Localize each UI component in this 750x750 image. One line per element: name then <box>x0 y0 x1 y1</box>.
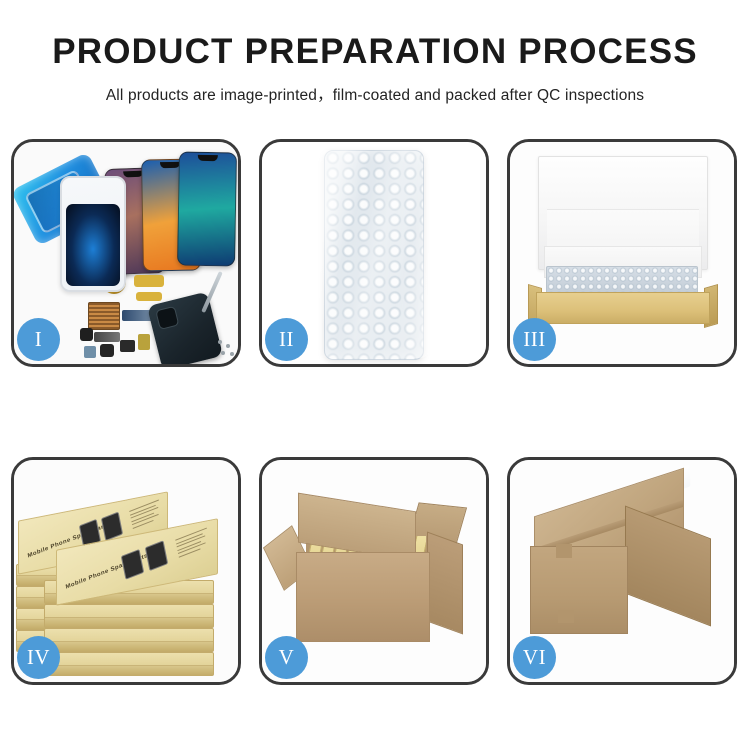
kraft-box-icon <box>44 628 214 652</box>
step-badge-2: II <box>265 318 308 361</box>
small-component-icon <box>120 340 135 352</box>
chip-grid-part-icon <box>88 302 120 330</box>
step-panel-4: Mobile Phone Spare Parts Mobile Phone Sp… <box>11 457 241 685</box>
tweezers-icon <box>201 271 223 313</box>
phone-screen-icon <box>177 152 237 267</box>
page-subtitle: All products are image-printed，film-coat… <box>0 83 750 105</box>
small-component-icon <box>80 328 93 341</box>
steps-grid: I II III <box>11 139 739 685</box>
page-title: PRODUCT PREPARATION PROCESS <box>0 34 750 71</box>
step-badge-3: III <box>513 318 556 361</box>
step-panel-1: I <box>11 139 241 367</box>
step-panel-3: III <box>507 139 737 367</box>
kraft-box-icon <box>44 604 214 628</box>
step-panel-2: II <box>259 139 489 367</box>
screws-icon <box>218 340 236 358</box>
carton-right-face <box>427 531 463 634</box>
header: PRODUCT PREPARATION PROCESS All products… <box>0 0 750 105</box>
flex-cable-part-icon <box>136 292 162 301</box>
step-panel-6: VI <box>507 457 737 685</box>
small-component-icon <box>138 334 150 350</box>
tempered-glass-screen-icon <box>60 176 126 292</box>
box-spec-lines <box>175 528 210 560</box>
kraft-box-front-icon <box>536 292 710 324</box>
phone-thumbnail-icon <box>121 549 144 580</box>
flex-cable-part-icon <box>134 275 164 287</box>
sealed-carton-front-face <box>530 546 628 634</box>
sealed-carton-right-face <box>625 505 711 626</box>
step-badge-4: IV <box>17 636 60 679</box>
carton-front-face <box>296 552 430 642</box>
carton-tab <box>558 610 574 623</box>
step-badge-6: VI <box>513 636 556 679</box>
kraft-box-icon <box>44 652 214 676</box>
small-component-icon <box>84 346 96 358</box>
phone-back-housing-icon <box>147 291 223 364</box>
flex-cable-part-icon <box>94 332 120 342</box>
step-panel-5: V <box>259 457 489 685</box>
carton-tab <box>556 544 572 558</box>
step-badge-1: I <box>17 318 60 361</box>
small-component-icon <box>100 344 114 357</box>
product-preparation-infographic: PRODUCT PREPARATION PROCESS All products… <box>0 0 750 750</box>
box-spec-lines <box>129 500 162 531</box>
phone-thumbnail-icon <box>145 540 168 571</box>
step-badge-5: V <box>265 636 308 679</box>
bubble-wrap-icon <box>324 150 424 360</box>
